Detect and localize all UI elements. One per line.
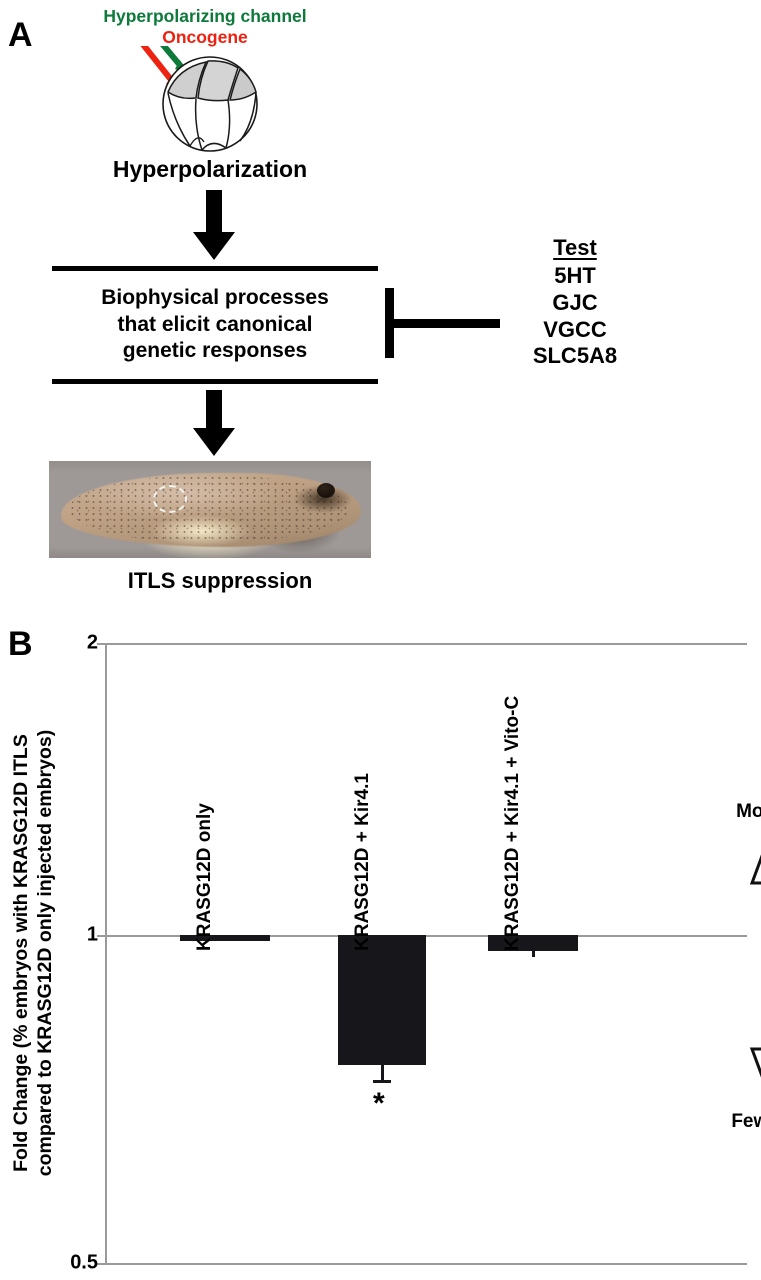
process-box-line-1: Biophysical processes [101,285,329,312]
y-axis-title-line-1: Fold Change (% embryos with KRASG12D ITL… [10,734,32,1172]
error-bar-krasg12d-kir41-vitoc [532,949,535,957]
process-box: Biophysical processes that elicit canoni… [52,266,378,384]
inhibition-tbar-icon [385,288,500,358]
test-block-title: Test [500,235,650,261]
y-tick-label-0point5: 0.5 [70,1252,98,1275]
step-label-hyperpolarization: Hyperpolarization [60,156,360,183]
panel-b: B Fold Change (% embryos with KRASG12D I… [0,615,761,1280]
arrow-legend-fewer-itls-label: Fewer ITLS [702,1111,761,1133]
down-arrow-icon-1 [190,190,238,262]
y-tick-label-1: 1 [87,924,98,947]
error-bar-krasg12d-kir41 [381,1065,384,1081]
chart-plot-area: 2 1 0.5 KRASG12D only KRASG12D + Kir4.1 … [105,643,745,1263]
test-item-vgcc: VGCC [500,317,650,344]
tadpole-embryo-photograph [49,461,371,558]
process-box-line-3: genetic responses [123,338,307,365]
test-item-slc5a8: SLC5A8 [500,343,650,370]
panel-a-letter: A [8,16,33,55]
y-axis-title-container: Fold Change (% embryos with KRASG12D ITL… [18,643,62,1263]
test-block: Test 5HT GJC VGCC SLC5A8 [500,235,650,370]
blastula-embryo-icon [128,46,288,158]
itls-region-dashed-circle-icon [153,485,187,513]
gridline-2 [107,643,747,645]
bar-label-krasg12d-only: KRASG12D only [194,803,216,951]
tick-1 [97,935,107,937]
tadpole-pigment-speckle [69,475,349,543]
gridline-0point5 [107,1263,747,1265]
hyperpolarizing-channel-label: Hyperpolarizing channel [50,6,360,27]
down-arrow-icon-2 [190,390,238,458]
y-axis-title: Fold Change (% embryos with KRASG12D ITL… [10,643,58,1263]
error-bar-cap-krasg12d-kir41 [373,1080,391,1083]
step-label-itls-suppression: ITLS suppression [60,568,380,594]
test-item-5ht: 5HT [500,263,650,290]
bar-label-krasg12d-kir41: KRASG12D + Kir4.1 [352,773,374,951]
y-axis-title-line-2: compared to KRASG12D only injected embry… [34,730,56,1176]
bar-label-krasg12d-kir41-vitoc: KRASG12D + Kir4.1 + Vito-C [502,696,524,951]
tick-2 [97,643,107,645]
tadpole-eye [317,483,335,498]
double-headed-arrow-icon [744,827,761,1105]
process-box-line-2: that elicit canonical [118,312,313,339]
tick-0point5 [97,1263,107,1265]
panel-a: A Hyperpolarizing channel Oncogene Hyper… [0,0,761,615]
bar-krasg12d-kir41 [338,935,426,1065]
y-tick-label-2: 2 [87,632,98,655]
test-item-gjc: GJC [500,290,650,317]
oncogene-label: Oncogene [50,27,360,48]
arrow-legend-more-itls-label: More ITLS [702,801,761,823]
significance-star-krasg12d-kir41: * [373,1089,385,1119]
